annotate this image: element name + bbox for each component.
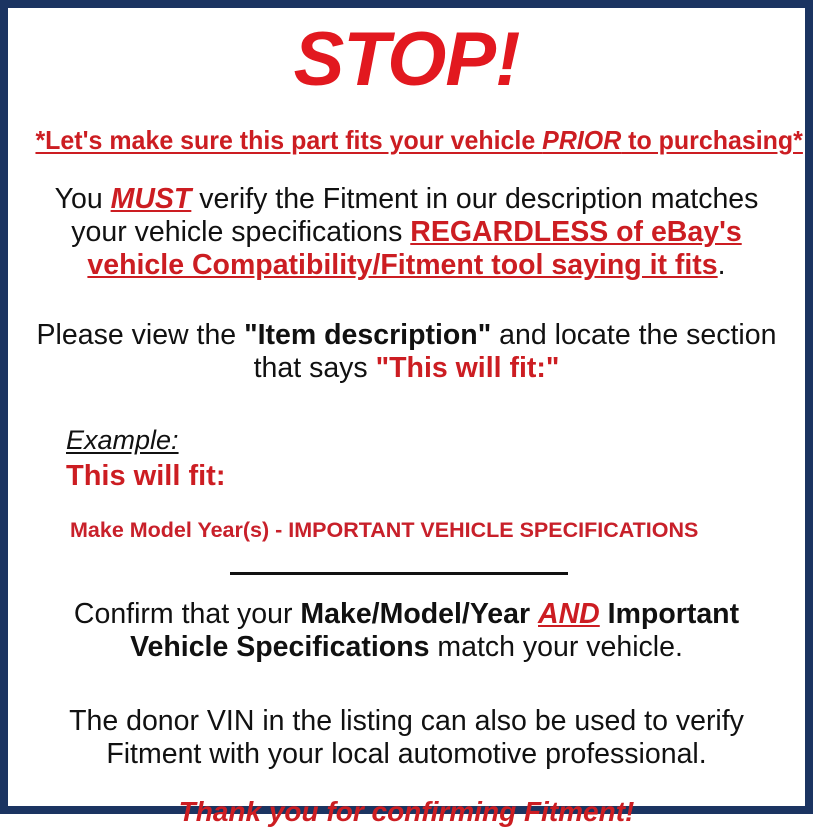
paragraph-confirm: Confirm that your Make/Model/Year AND Im… (20, 598, 793, 665)
confirm-space-2 (600, 598, 608, 630)
example-label-row: Example: (66, 425, 793, 456)
thank-you-message: Thank you for confirming Fitment! (20, 795, 793, 829)
paragraph-donor-vin: The donor VIN in the listing can also be… (20, 705, 793, 772)
paragraph-verify-fitment: You MUST verify the Fitment in our descr… (20, 183, 793, 283)
emphasis-item-description: "Item description" (244, 319, 491, 351)
emphasis-and: AND (538, 598, 600, 630)
subtitle-emphasis-prior: PRIOR (542, 125, 621, 155)
emphasis-this-will-fit: "This will fit:" (376, 352, 560, 384)
page-title: STOP! (20, 22, 793, 98)
example-will-fit-heading: This will fit: (66, 459, 793, 494)
example-block: Example: This will fit: Make Model Year(… (20, 425, 793, 544)
subtitle-banner: *Let's make sure this part fits your veh… (35, 126, 777, 155)
subtitle-part-2: to purchasing* (621, 125, 803, 155)
subtitle-part-1: *Let's make sure this part fits your veh… (35, 125, 542, 155)
section-divider-wrap (20, 566, 793, 580)
fitment-notice-card: STOP! *Let's make sure this part fits yo… (0, 0, 813, 814)
confirm-space-1 (530, 598, 538, 630)
confirm-text-2: match your vehicle. (429, 631, 682, 663)
confirm-text-1: Confirm that your (74, 598, 301, 630)
emphasis-make-model-year: Make/Model/Year (300, 598, 530, 630)
paragraph-view-description: Please view the "Item description" and l… (20, 319, 793, 386)
section-divider (230, 572, 568, 575)
verify-text-3: . (718, 249, 726, 281)
verify-text-1: You (55, 183, 111, 215)
example-spec-line: Make Model Year(s) - IMPORTANT VEHICLE S… (66, 518, 793, 544)
emphasis-must: MUST (111, 183, 192, 215)
example-label: Example: (66, 425, 179, 456)
viewdesc-text-1: Please view the (37, 319, 245, 351)
